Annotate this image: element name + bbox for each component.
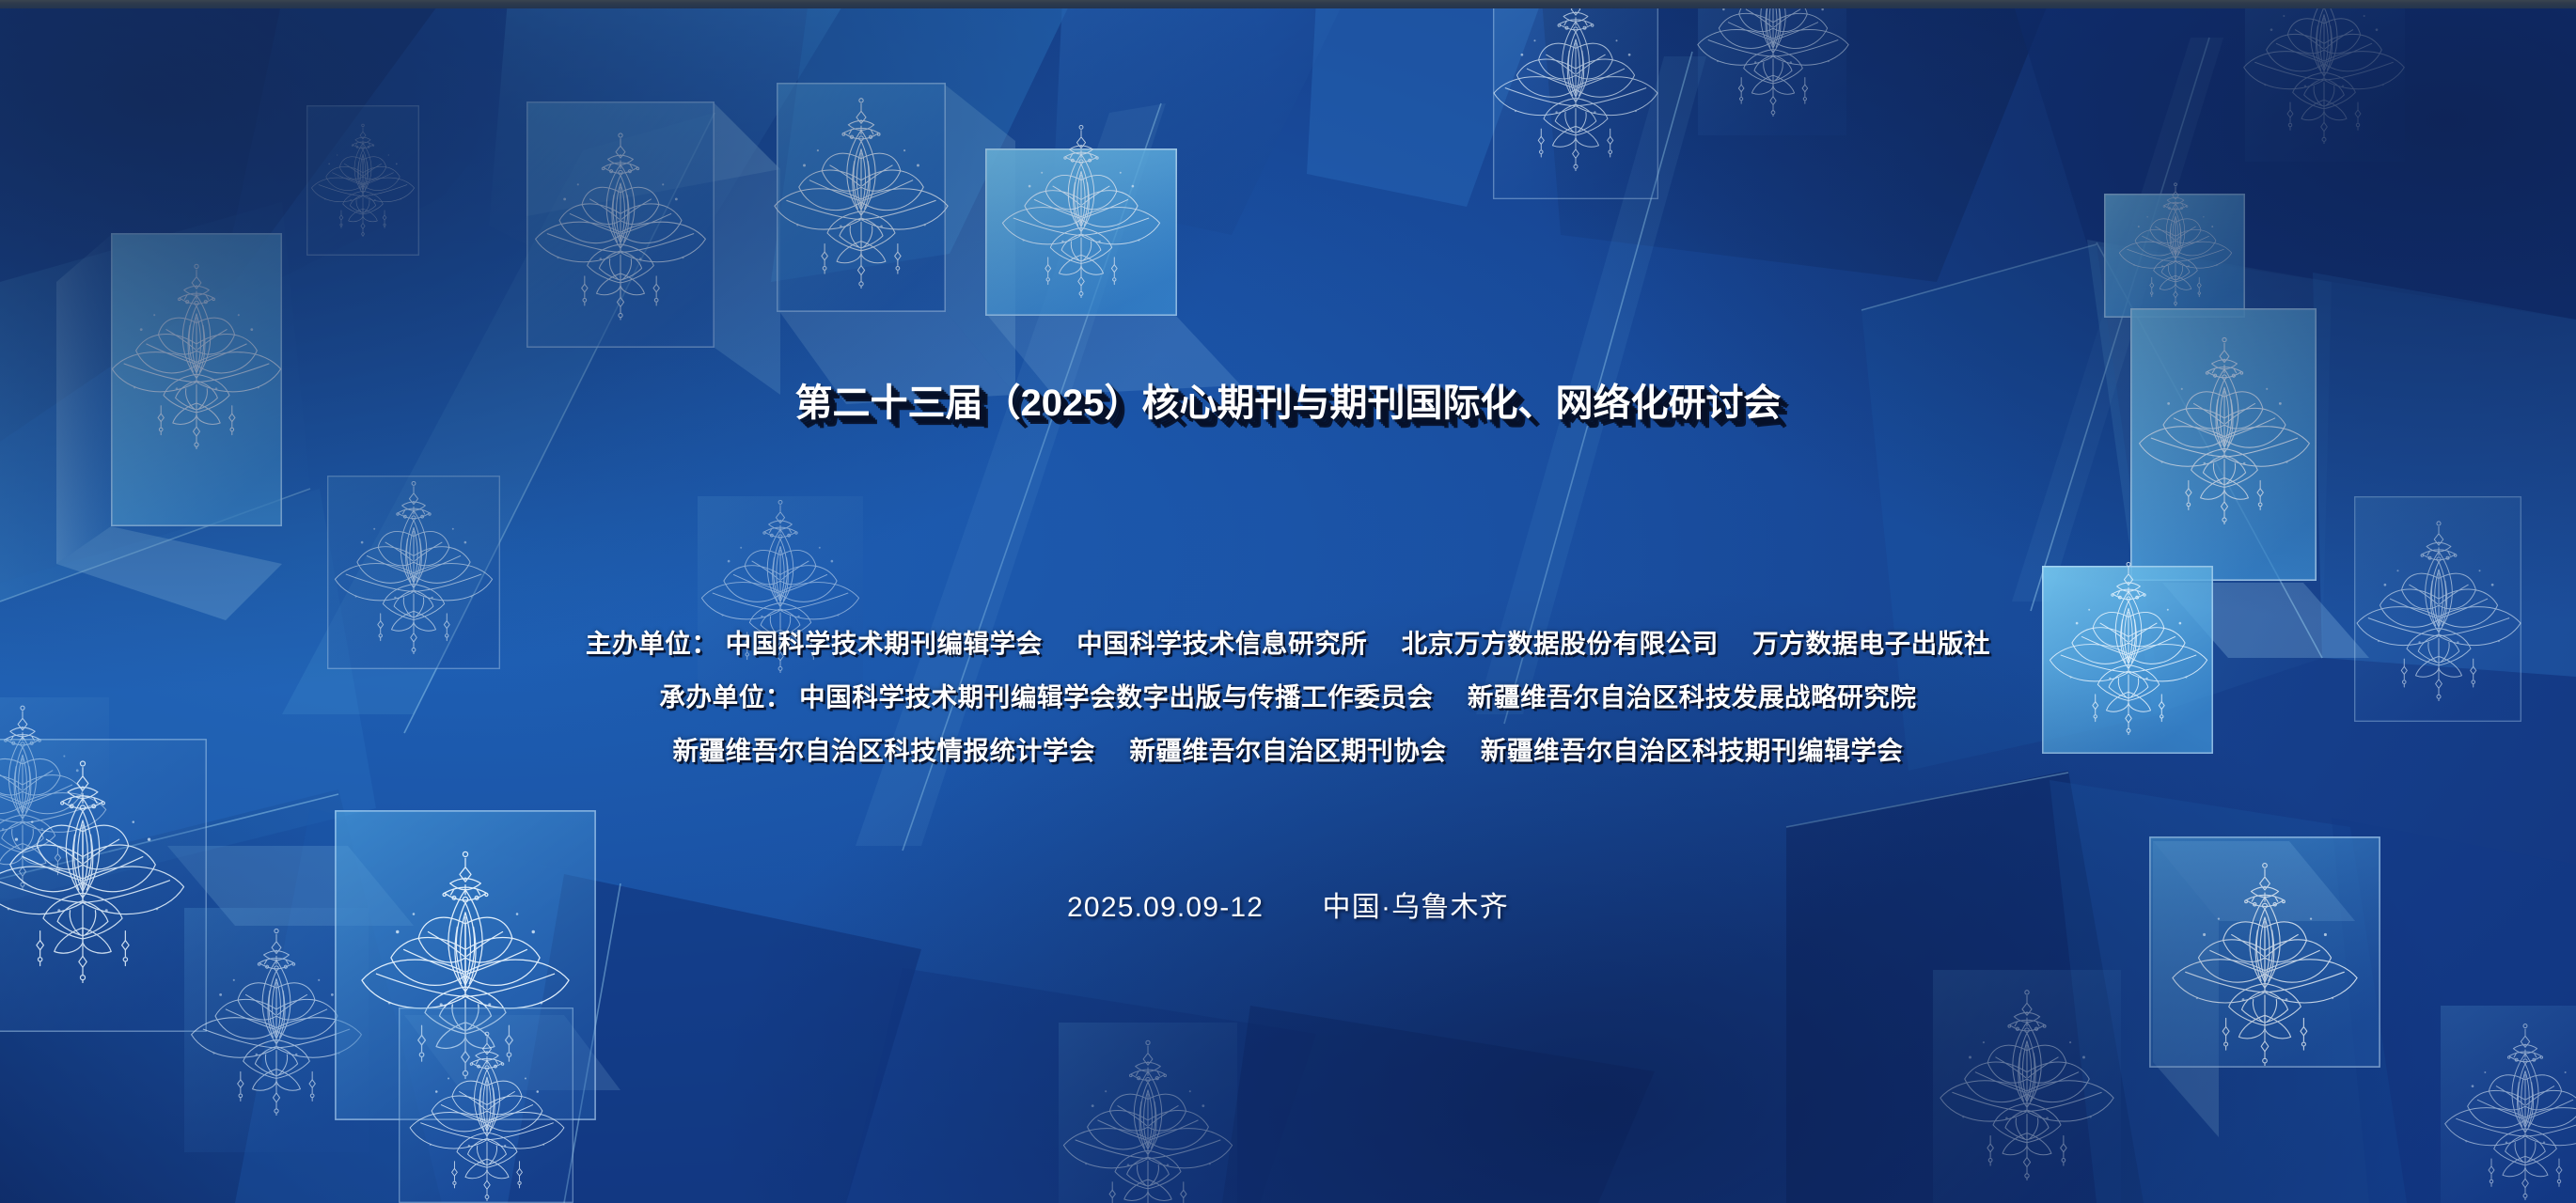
- lotus-card: [2245, 0, 2405, 162]
- lotus-card: [2104, 194, 2245, 318]
- lotus-card: [777, 83, 946, 312]
- lotus-icon: [2343, 500, 2535, 711]
- lotus-card: [698, 496, 863, 690]
- lotus-icon: [1049, 1023, 1247, 1203]
- lotus-icon: [2230, 0, 2418, 148]
- lotus-icon: [0, 739, 201, 991]
- lotus-card: [2149, 836, 2380, 1068]
- lotus-icon: [322, 462, 506, 662]
- lotus-card: [2042, 566, 2213, 754]
- lotus-icon: [2157, 840, 2373, 1075]
- lotus-card: [2354, 496, 2521, 722]
- lotus-card: [2441, 1006, 2576, 1203]
- lotus-card: [327, 476, 500, 669]
- lotus-card: [1059, 1023, 1237, 1203]
- lotus-card: [1493, 0, 1658, 199]
- lotus-icon: [2125, 316, 2324, 534]
- lotus-icon: [2431, 1006, 2576, 1203]
- lotus-icon: [2110, 169, 2241, 312]
- lotus-icon: [303, 111, 423, 242]
- lotus-icon: [521, 115, 720, 326]
- lotus-icon: [760, 77, 963, 297]
- lotus-card: [1698, 0, 1846, 135]
- lotus-card: [111, 233, 282, 526]
- lotus-card: [1933, 970, 2121, 1203]
- lotus-icon: [688, 481, 872, 680]
- lotus-card: [526, 102, 715, 348]
- lotus-card: [399, 1008, 573, 1203]
- lotus-icon: [1925, 970, 2128, 1188]
- top-edge-strip: [0, 0, 2576, 8]
- lotus-card: [306, 105, 419, 256]
- lotus-icon: [98, 242, 295, 459]
- lotus-card: [0, 739, 207, 1032]
- lotus-card: [985, 148, 1177, 316]
- conference-banner: 第二十三届（2025）核心期刊与期刊国际化、网络化研讨会 主办单位： 中国科学技…: [0, 0, 2576, 1203]
- lotus-icon: [2036, 543, 2221, 742]
- lotus-card: [2130, 308, 2317, 581]
- lotus-icon: [397, 1013, 577, 1203]
- lotus-icon: [1480, 0, 1672, 180]
- lotus-icon: [989, 105, 1173, 306]
- lotus-icon: [1685, 0, 1861, 122]
